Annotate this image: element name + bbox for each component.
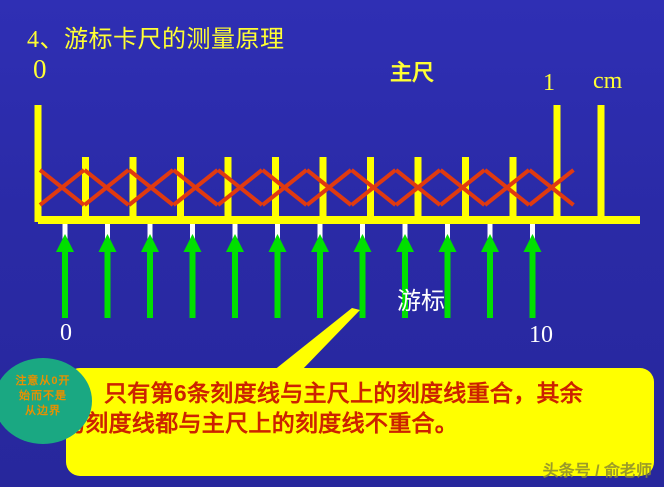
watermark: 头条号 / 俞老师 bbox=[543, 457, 652, 481]
vernier-arrow-head bbox=[524, 234, 542, 252]
main-scale-tick bbox=[598, 105, 605, 222]
callout-line-1: 只有第6条刻度线与主尺上的刻度线重合，其余 bbox=[70, 378, 648, 408]
vernier-arrow-shaft bbox=[232, 248, 238, 318]
main-scale-baseline bbox=[38, 216, 640, 224]
vernier-scale-label: 游标 bbox=[397, 281, 445, 316]
vernier-arrow-head bbox=[439, 234, 457, 252]
vernier-arrow-head bbox=[184, 234, 202, 252]
vernier-arrow-head bbox=[99, 234, 117, 252]
note-bubble-text: 注意从0开 始而不是 从边界 bbox=[2, 374, 84, 419]
main-scale-tick bbox=[272, 157, 279, 222]
vernier-arrow-shaft bbox=[530, 248, 536, 318]
vernier-end-label: 10 bbox=[529, 322, 553, 349]
vernier-start-label: 0 bbox=[60, 320, 72, 347]
vernier-arrow-head bbox=[226, 234, 244, 252]
vernier-arrow-shaft bbox=[105, 248, 111, 318]
vernier-arrow-shaft bbox=[360, 248, 366, 318]
slide-canvas: 4、游标卡尺的测量原理 0 1 cm 主尺 游标 0 10 只有第6条刻度线与主… bbox=[0, 0, 664, 487]
main-scale-tick bbox=[554, 105, 561, 222]
note-line-3: 从边界 bbox=[2, 404, 84, 419]
vernier-arrow-head bbox=[311, 234, 329, 252]
vernier-arrow-shaft bbox=[487, 248, 493, 318]
vernier-arrow-shaft bbox=[190, 248, 196, 318]
vernier-arrow-shaft bbox=[275, 248, 281, 318]
main-scale-tick bbox=[82, 157, 89, 222]
note-line-2: 始而不是 bbox=[2, 389, 84, 404]
main-scale-ruler bbox=[35, 105, 641, 224]
main-scale-tick bbox=[177, 157, 184, 222]
callout-line-2: 的刻度线都与主尺上的刻度线不重合。 bbox=[62, 408, 648, 438]
vernier-arrow-shaft bbox=[147, 248, 153, 318]
vernier-arrow-head bbox=[396, 234, 414, 252]
cross-marks-group bbox=[40, 170, 574, 205]
vernier-arrow-shaft bbox=[62, 248, 68, 318]
vernier-arrow-head bbox=[481, 234, 499, 252]
vernier-arrow-head bbox=[141, 234, 159, 252]
main-scale-tick bbox=[130, 157, 137, 222]
main-scale-tick bbox=[225, 157, 232, 222]
vernier-arrow-head bbox=[56, 234, 74, 252]
vernier-arrow-shaft bbox=[445, 248, 451, 318]
note-line-1: 注意从0开 bbox=[2, 374, 84, 389]
vernier-arrow-head bbox=[354, 234, 372, 252]
callout-text: 只有第6条刻度线与主尺上的刻度线重合，其余 的刻度线都与主尺上的刻度线不重合。 bbox=[70, 378, 648, 438]
vernier-arrow-head bbox=[269, 234, 287, 252]
vernier-scale-ruler bbox=[56, 224, 542, 318]
vernier-arrow-shaft bbox=[317, 248, 323, 318]
